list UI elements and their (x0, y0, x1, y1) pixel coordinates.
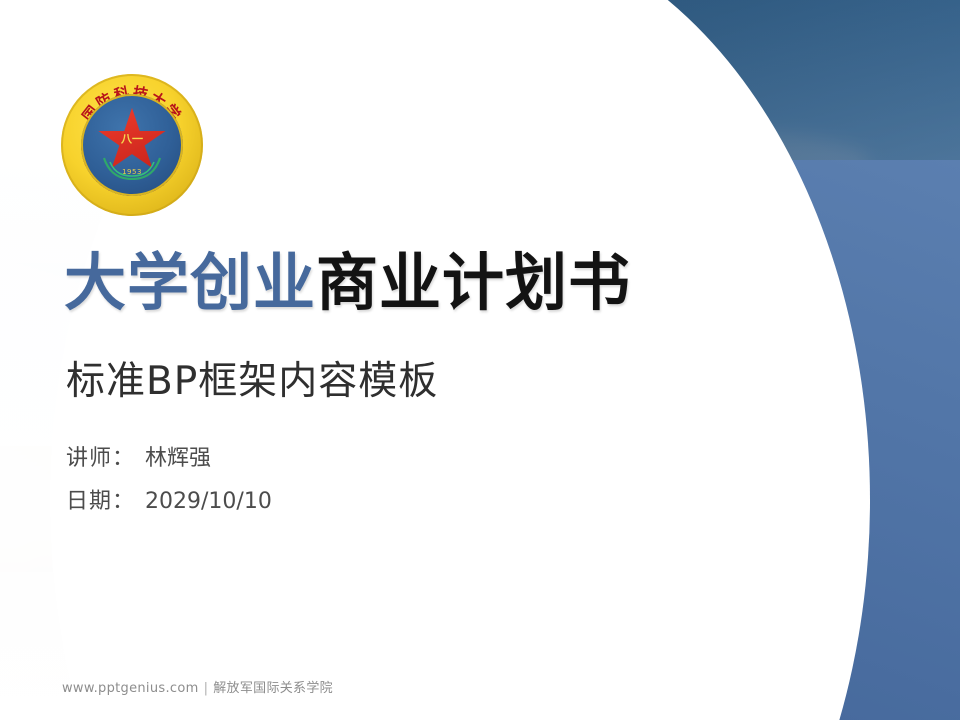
date-label: 日期： (66, 489, 135, 514)
slide-footer: www.pptgenius.com|解放军国际关系学院 (62, 677, 333, 696)
logo-wreath-icon (98, 154, 166, 180)
logo-bayi-text: 八一 (121, 133, 143, 144)
footer-separator: | (204, 681, 209, 696)
date-row: 日期：2029/10/10 (66, 481, 272, 524)
slide-title: 大学创业商业计划书 (64, 252, 631, 314)
date-value: 2029/10/10 (145, 489, 272, 514)
logo-inner-field: 八一 1953 (81, 94, 183, 196)
slide-subtitle: 标准BP框架内容模板 (66, 350, 438, 406)
footer-site[interactable]: www.pptgenius.com (62, 681, 199, 696)
slide-title-accent: 大学创业 (64, 246, 316, 319)
university-logo: 国防科技大学 NATIONAL UNIVERSITY OF DEFENSE TE… (61, 74, 203, 216)
logo-year-text: 1953 (122, 168, 142, 176)
slide-meta: 讲师：林辉强 日期：2029/10/10 (66, 438, 272, 524)
presentation-slide: 中国人民解放军国际关系学院 (0, 0, 960, 720)
presenter-value: 林辉强 (145, 446, 211, 471)
blue-corner-panel (730, 160, 960, 720)
presenter-row: 讲师：林辉强 (66, 438, 272, 481)
slide-title-main: 商业计划书 (316, 246, 631, 319)
footer-organization: 解放军国际关系学院 (213, 681, 333, 696)
presenter-label: 讲师： (66, 446, 135, 471)
